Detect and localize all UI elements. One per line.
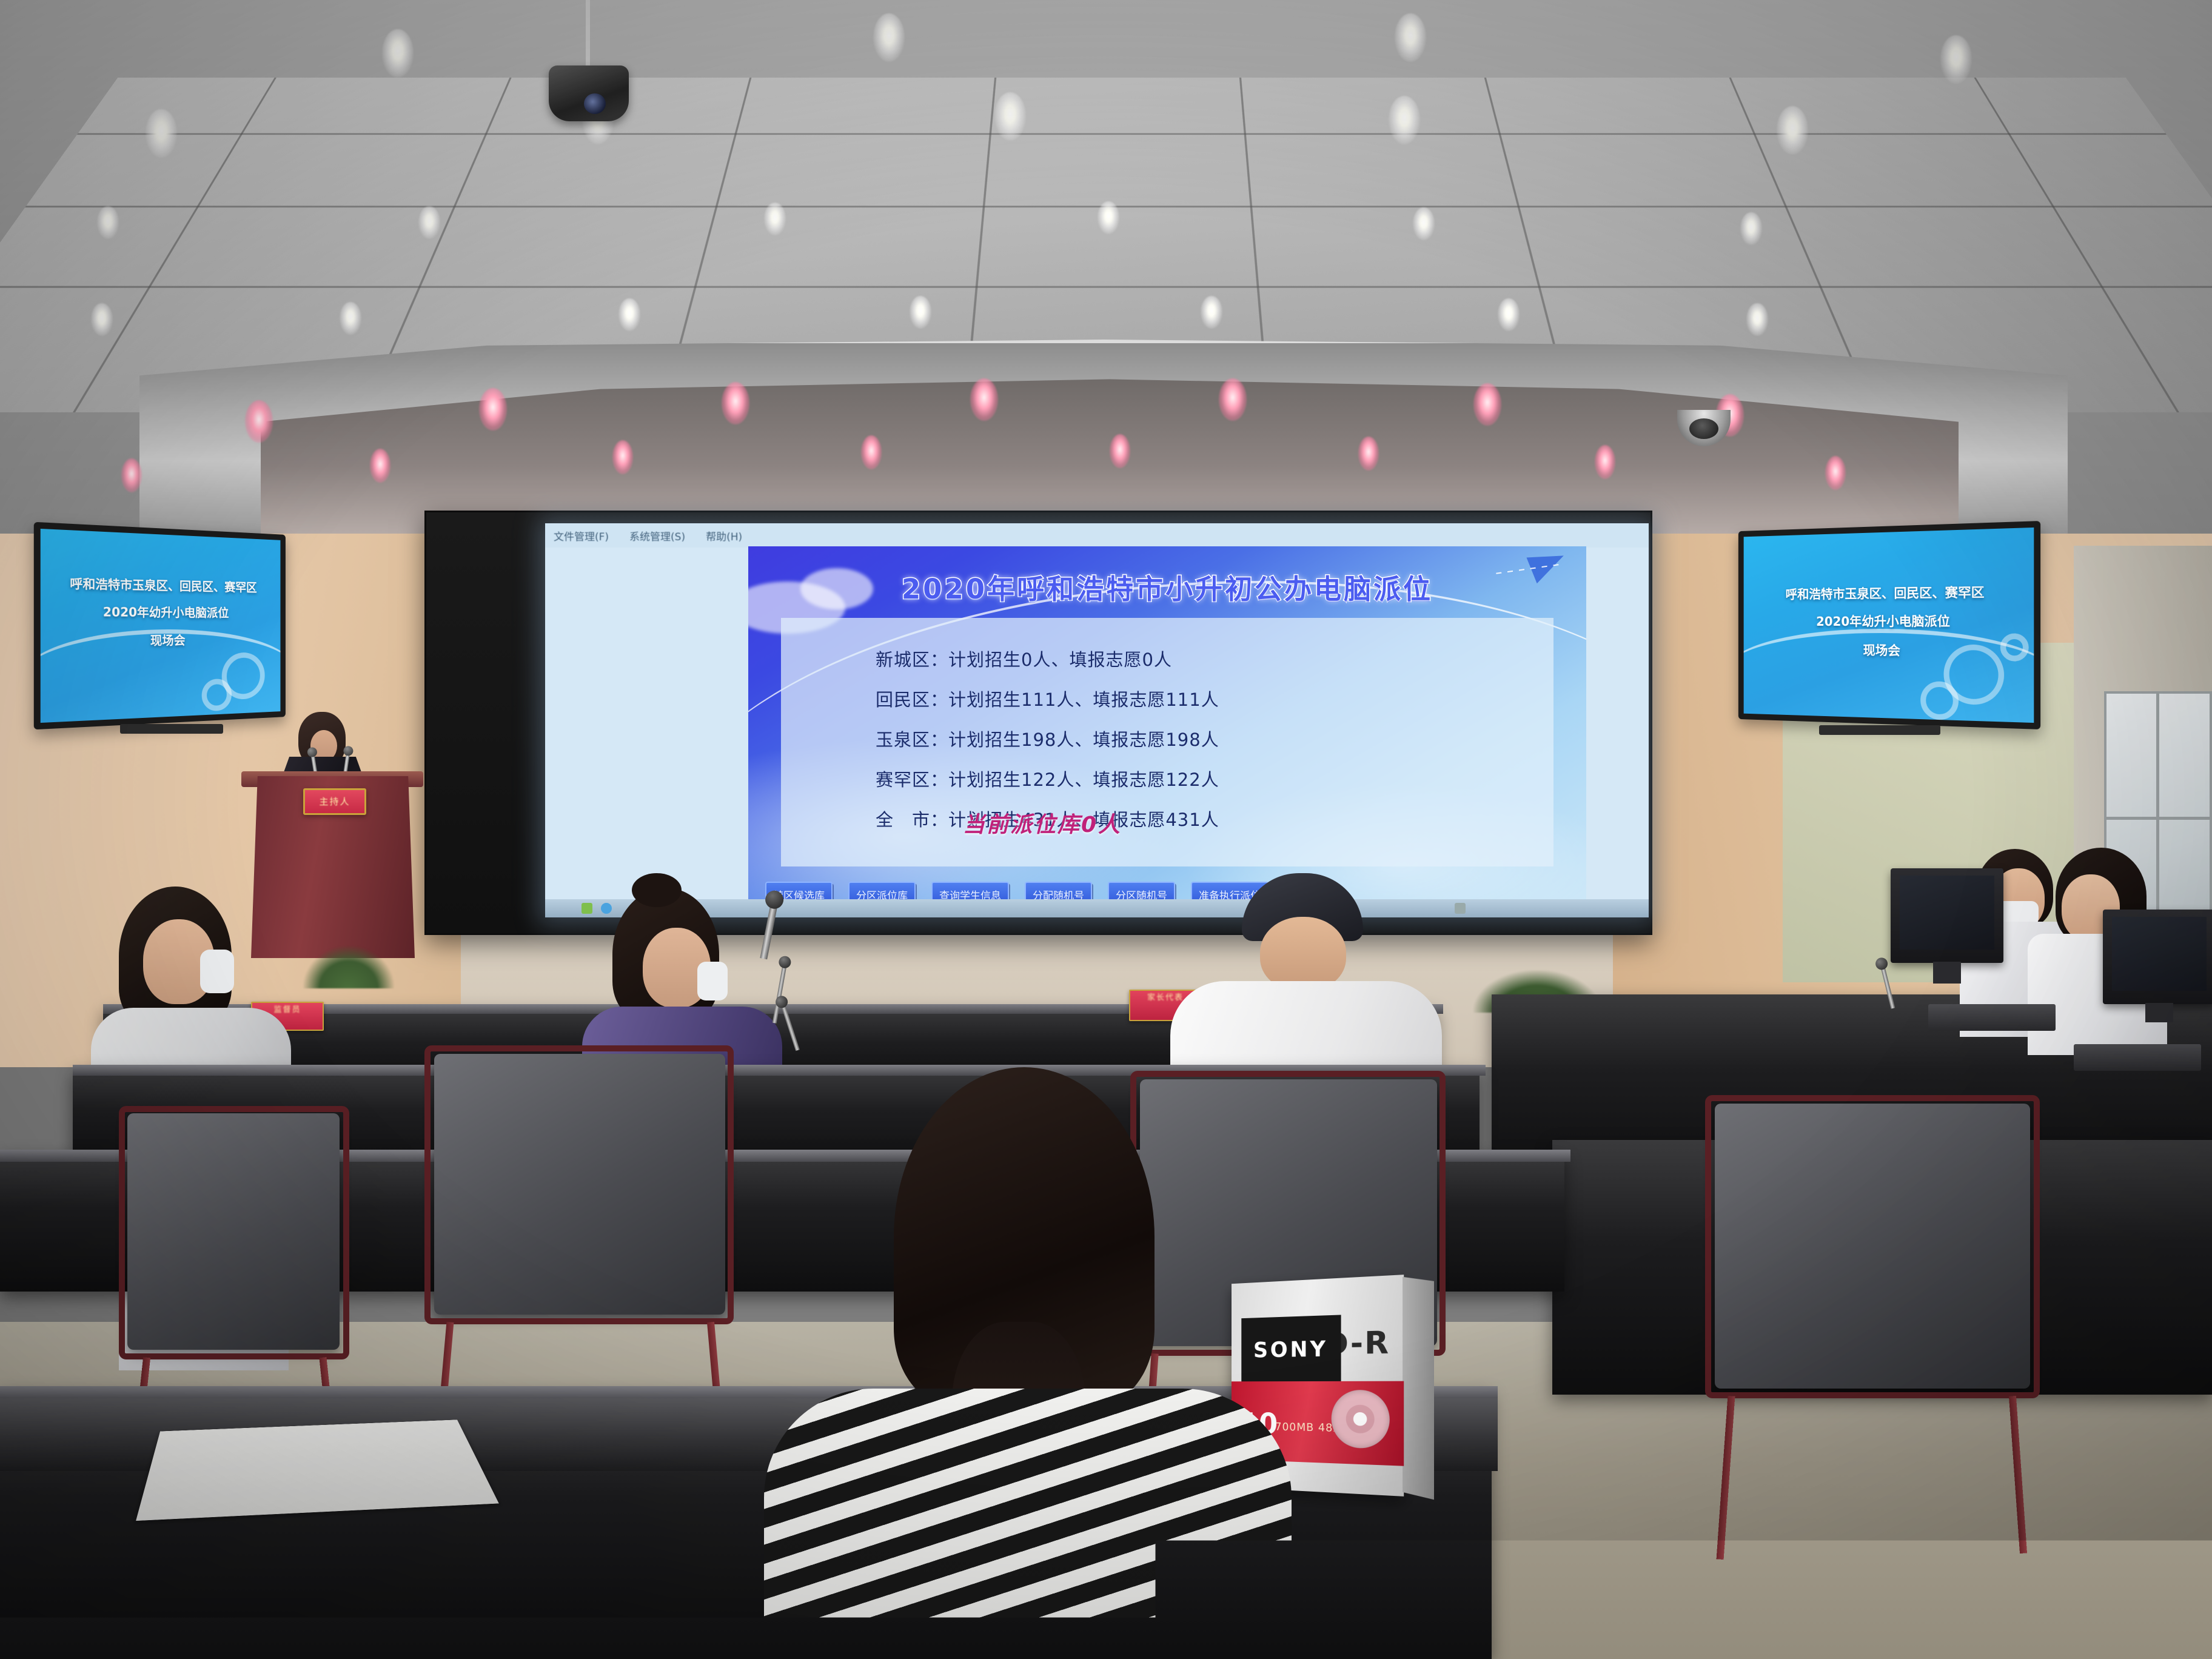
plant-left	[303, 946, 394, 988]
hair-bun	[632, 873, 682, 907]
tv-left-stand	[120, 724, 223, 734]
conference-room-photo: 呼和浩特市玉泉区、回民区、赛罕区 2020年幼升小电脑派位 现场会 呼和浩特市玉…	[0, 0, 2212, 1659]
projector-mount-rod	[586, 0, 590, 72]
district-row: 新城区：计划招生0人、填报志愿0人	[876, 646, 1219, 671]
district-row: 玉泉区：计划招生198人、填报志愿198人	[876, 726, 1219, 751]
sony-logo-text: SONY	[1253, 1336, 1328, 1362]
disc-icon	[1332, 1390, 1390, 1449]
tv-left-line2: 2020年幼升小电脑派位	[41, 604, 281, 621]
tv-right-line2: 2020年幼升小电脑派位	[1744, 613, 2034, 630]
current-pool-status: 当前派位库0人	[963, 807, 1122, 839]
tv-right-line1: 呼和浩特市玉泉区、回民区、赛罕区	[1744, 584, 2034, 603]
projection-screen: 文件管理(F) 系统管理(S) 帮助(H) 2020年呼和浩特市小升初公办电脑派…	[424, 511, 1652, 935]
paper-sheet	[136, 1419, 499, 1521]
stats-panel: 新城区：计划招生0人、填报志愿0人 回民区：计划招生111人、填报志愿111人 …	[781, 618, 1553, 866]
ceiling	[0, 0, 2212, 534]
operator-monitor-1	[1891, 868, 2003, 963]
operator-keyboard-1[interactable]	[1928, 1004, 2056, 1031]
face-mask-left	[200, 950, 234, 993]
menu-item-help[interactable]: 帮助(H)	[706, 528, 742, 543]
application-menubar[interactable]: 文件管理(F) 系统管理(S) 帮助(H)	[545, 523, 1649, 548]
podium-nameplate-text: 主持人	[305, 790, 364, 813]
projector	[549, 65, 629, 121]
slide-title: 2020年呼和浩特市小升初公办电脑派位	[748, 567, 1586, 606]
tv-right-screen: 呼和浩特市玉泉区、回民区、赛罕区 2020年幼升小电脑派位 现场会	[1744, 528, 2034, 723]
operator-keyboard-2[interactable]	[2074, 1044, 2201, 1071]
lottery-application-window: 文件管理(F) 系统管理(S) 帮助(H) 2020年呼和浩特市小升初公办电脑派…	[545, 523, 1649, 917]
sony-logo: SONY	[1241, 1315, 1341, 1382]
district-row: 回民区：计划招生111人、填报志愿111人	[876, 686, 1219, 711]
tv-left-line1: 呼和浩特市玉泉区、回民区、赛罕区	[41, 575, 281, 595]
menu-item-system[interactable]: 系统管理(S)	[629, 528, 685, 543]
menu-item-file[interactable]: 文件管理(F)	[554, 528, 609, 543]
os-taskbar[interactable]	[545, 899, 1649, 917]
district-row: 赛罕区：计划招生122人、填报志愿122人	[876, 766, 1219, 791]
tv-display-left: 呼和浩特市玉泉区、回民区、赛罕区 2020年幼升小电脑派位 现场会	[34, 522, 286, 730]
operator-monitor-2	[2103, 910, 2212, 1004]
lottery-slide: 2020年呼和浩特市小升初公办电脑派位 新城区：计划招生0人、填报志愿0人 回民…	[748, 546, 1586, 917]
tv-left-screen: 呼和浩特市玉泉区、回民区、赛罕区 2020年幼升小电脑派位 现场会	[41, 529, 281, 723]
tv-display-right: 呼和浩特市玉泉区、回民区、赛罕区 2020年幼升小电脑派位 现场会	[1738, 521, 2040, 729]
face-mask-center-left	[697, 962, 728, 1000]
tv-left-line3: 现场会	[41, 632, 281, 649]
podium-nameplate: 主持人	[303, 788, 366, 815]
tv-right-stand	[1819, 725, 1940, 735]
